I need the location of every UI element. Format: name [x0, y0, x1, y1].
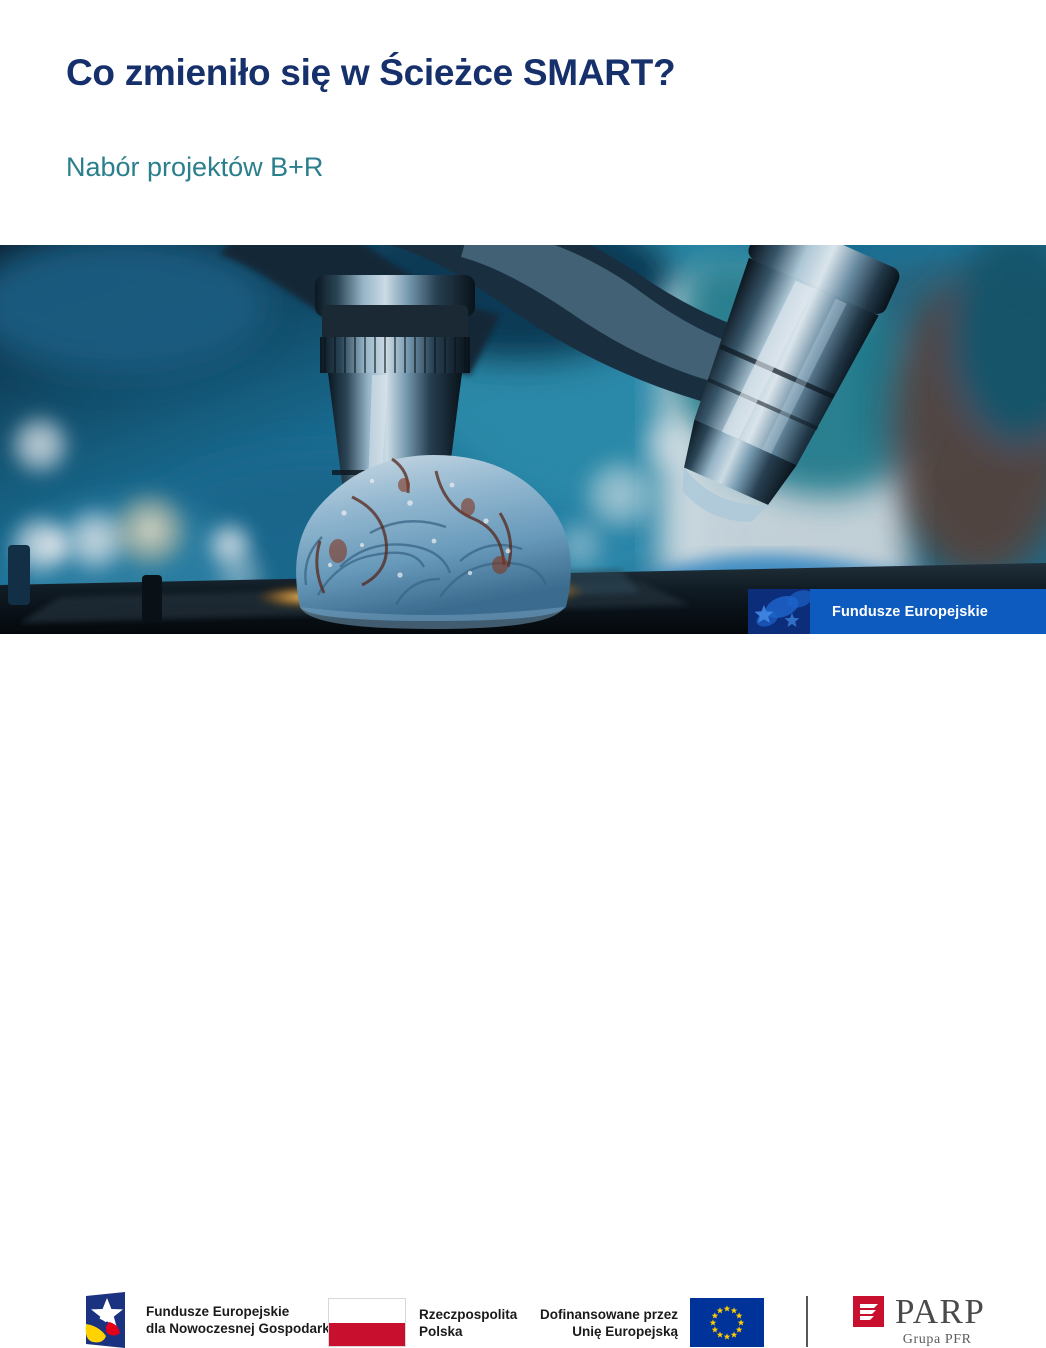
fundusze-europejskie-badge: Fundusze Europejskie: [748, 589, 1046, 634]
fundusze-europejskie-badge-label: Fundusze Europejskie: [810, 589, 1046, 634]
microscope-lab-illustration: [0, 245, 1046, 634]
pl-logo-line2: Polska: [419, 1323, 517, 1340]
page-subtitle: Nabór projektów B+R: [66, 152, 323, 183]
parp-wordmark: PARP: [895, 1295, 985, 1328]
rzeczpospolita-polska-logo-text: Rzeczpospolita Polska: [419, 1306, 517, 1340]
pl-logo-line1: Rzeczpospolita: [419, 1306, 517, 1323]
poland-flag-white-band: [329, 1299, 405, 1323]
fundusze-europejskie-stars-emblem: [748, 589, 810, 634]
fundusze-europejskie-logo: Fundusze Europejskie dla Nowoczesnej Gos…: [73, 1292, 334, 1348]
poland-flag-icon: [328, 1298, 406, 1347]
eu-logo-line2: Unię Europejską: [540, 1323, 678, 1340]
presentation-slide: Co zmieniło się w Ścieżce SMART? Nabór p…: [0, 0, 1046, 738]
hero-photo: [0, 245, 1046, 634]
european-union-flag-icon: [690, 1298, 764, 1347]
footer-divider: [806, 1296, 808, 1347]
slide-footer: Fundusze Europejskie dla Nowoczesnej Gos…: [0, 634, 1046, 738]
fundusze-europejskie-emblem-icon: [73, 1292, 133, 1348]
fe-logo-line2: dla Nowoczesnej Gospodarki: [146, 1320, 334, 1337]
parp-tagline: Grupa PFR: [853, 1332, 985, 1348]
eu-logo-line1: Dofinansowane przez: [540, 1306, 678, 1323]
slide-header: Co zmieniło się w Ścieżce SMART? Nabór p…: [0, 0, 1046, 245]
fundusze-europejskie-logo-text: Fundusze Europejskie dla Nowoczesnej Gos…: [146, 1303, 334, 1337]
european-union-logo-text: Dofinansowane przez Unię Europejską: [540, 1306, 678, 1340]
poland-flag-red-band: [329, 1323, 405, 1347]
parp-logo: PARP Grupa PFR: [853, 1295, 985, 1348]
european-union-logo: Dofinansowane przez Unię Europejską: [540, 1298, 764, 1347]
fe-logo-line1: Fundusze Europejskie: [146, 1303, 334, 1320]
page-title: Co zmieniło się w Ścieżce SMART?: [66, 52, 675, 94]
parp-mark-icon: [853, 1296, 884, 1327]
rzeczpospolita-polska-logo: Rzeczpospolita Polska: [328, 1298, 517, 1347]
